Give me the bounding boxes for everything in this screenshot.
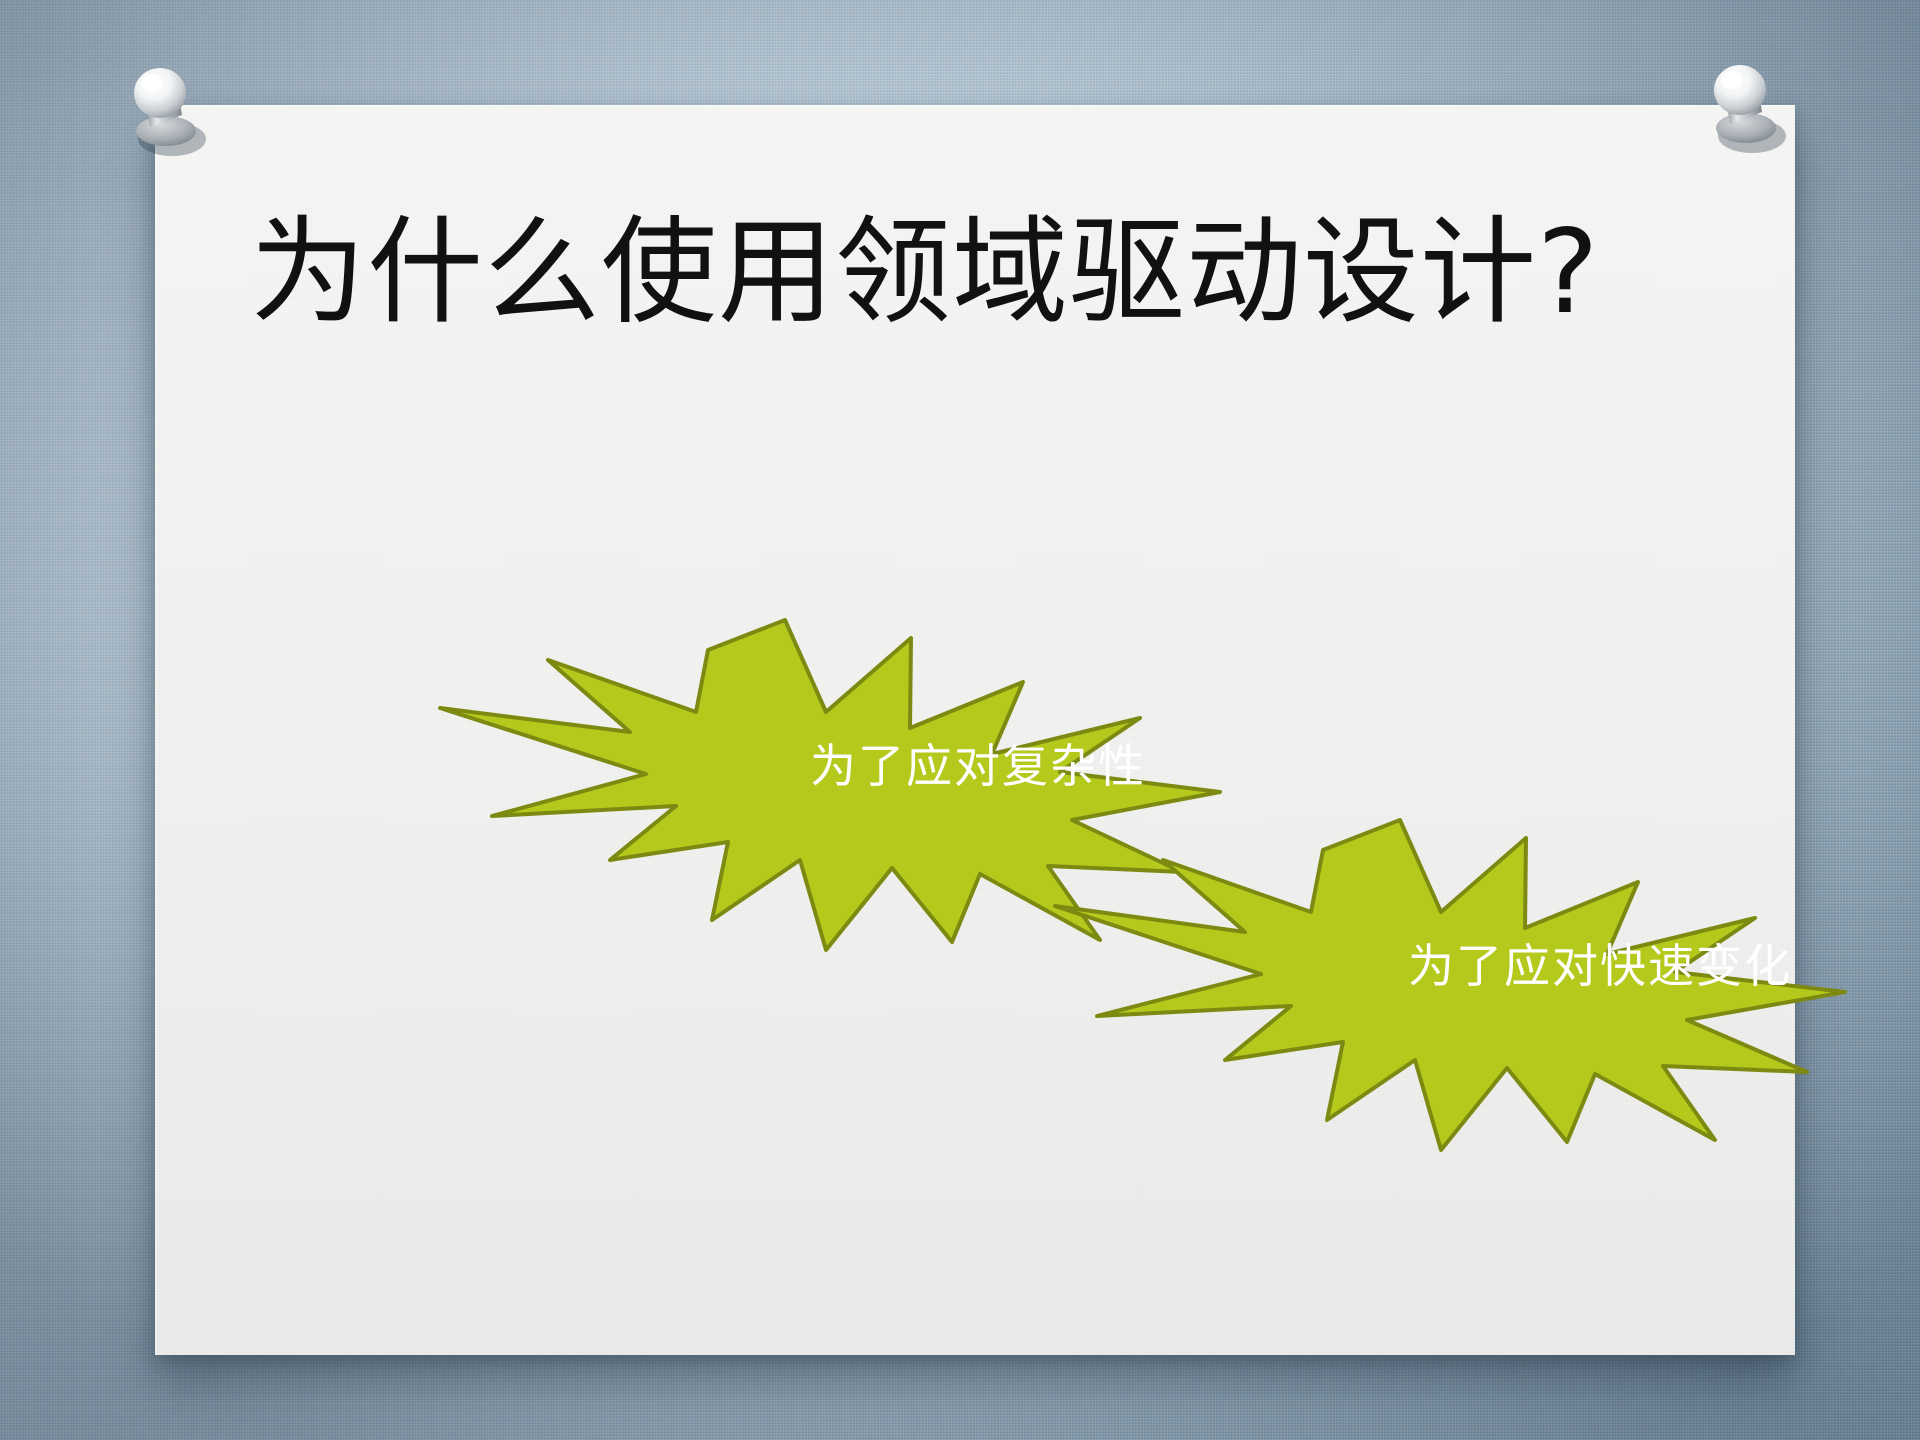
starburst-label-complexity: 为了应对复杂性 (628, 730, 1328, 796)
slide-stage: 为什么使用领域驱动设计? 为了应对复杂性 为了应对快速变化 (0, 0, 1920, 1440)
pushpin-icon-left (120, 55, 216, 165)
paper-sheet: 为什么使用领域驱动设计? 为了应对复杂性 为了应对快速变化 (155, 105, 1795, 1355)
pushpin-icon-right (1700, 52, 1796, 162)
page-title: 为什么使用领域驱动设计? (250, 205, 1720, 342)
starburst-label-change: 为了应对快速变化 (1250, 930, 1920, 996)
